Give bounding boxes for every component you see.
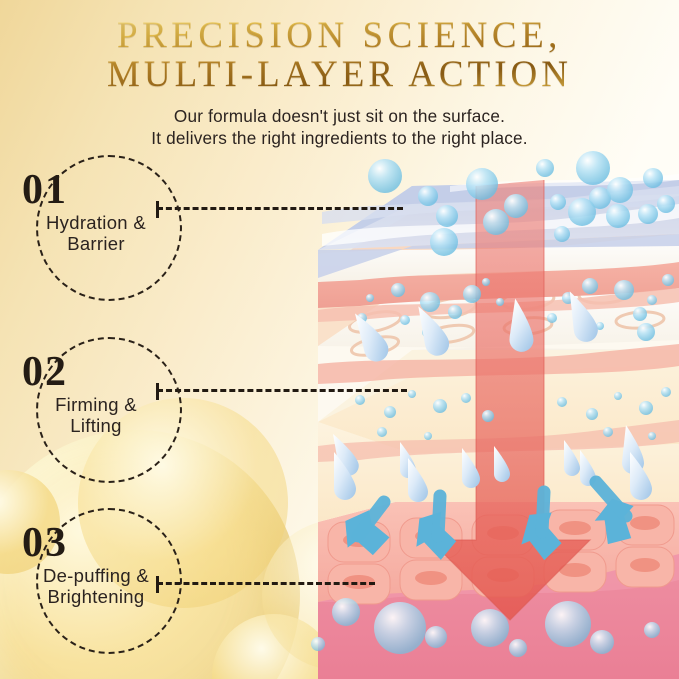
subtitle-line-1: Our formula doesn't just sit on the surf… <box>174 106 505 126</box>
callout-label-02-line-2: Lifting <box>16 416 176 437</box>
connector-line-01 <box>157 207 403 210</box>
callout-03[interactable]: 03 De-puffing & Brightening <box>8 508 168 668</box>
connector-line-03 <box>157 582 375 585</box>
callout-label-03-line-2: Brightening <box>16 587 176 608</box>
callout-label-03: De-puffing & Brightening <box>16 566 176 607</box>
skin-cross-section-illustration <box>300 150 679 679</box>
callout-number-03: 03 <box>22 522 68 564</box>
page-subtitle: Our formula doesn't just sit on the surf… <box>0 105 679 149</box>
title-line-2: MULTI-LAYER ACTION <box>0 55 679 94</box>
title-line-1: PRECISION SCIENCE, <box>117 15 562 56</box>
callout-label-02: Firming & Lifting <box>16 395 176 436</box>
callout-number-02: 02 <box>22 351 68 393</box>
subtitle-line-2: It delivers the right ingredients to the… <box>0 127 679 149</box>
connector-line-02 <box>157 389 407 392</box>
callout-number-01: 01 <box>22 169 68 211</box>
callout-label-03-line-1: De-puffing & <box>43 565 149 586</box>
page-title: PRECISION SCIENCE, MULTI-LAYER ACTION <box>0 16 679 94</box>
callout-label-01: Hydration & Barrier <box>16 213 176 254</box>
callout-label-01-line-2: Barrier <box>16 234 176 255</box>
callout-label-01-line-1: Hydration & <box>46 212 146 233</box>
callout-label-02-line-1: Firming & <box>55 394 137 415</box>
infographic-canvas: PRECISION SCIENCE, MULTI-LAYER ACTION Ou… <box>0 0 679 679</box>
callout-02[interactable]: 02 Firming & Lifting <box>8 337 168 497</box>
callout-01[interactable]: 01 Hydration & Barrier <box>8 155 168 315</box>
